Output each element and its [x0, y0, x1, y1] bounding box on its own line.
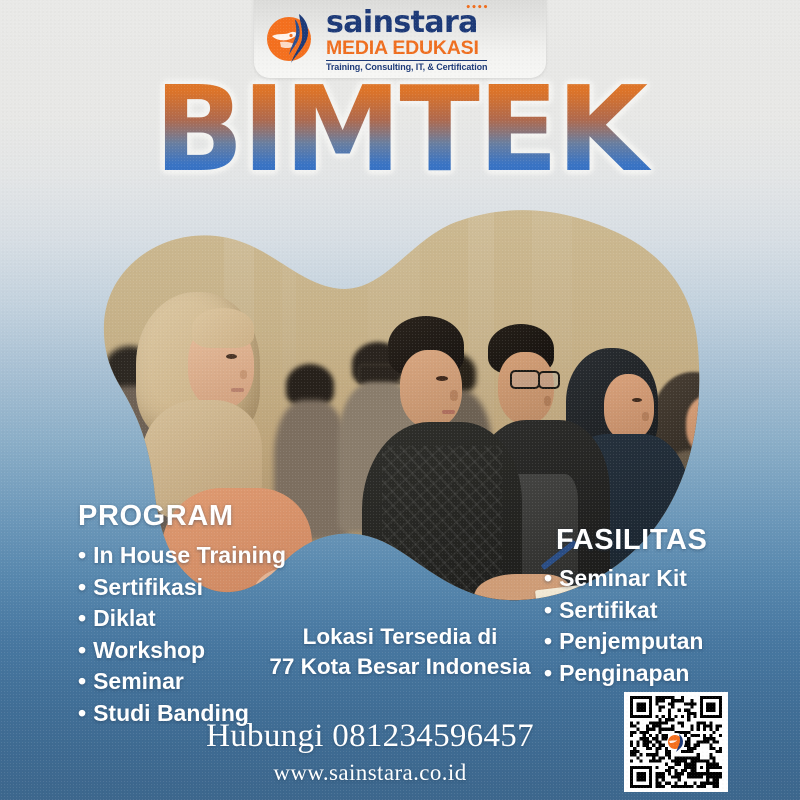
- page-title: BIMTEK: [0, 70, 800, 188]
- qr-center-logo-icon: [666, 732, 686, 752]
- fasilitas-list: Seminar Kit Sertifikat Penjemputan Pengi…: [544, 563, 707, 689]
- list-item: Penginapan: [544, 658, 707, 690]
- brand-subtitle: MEDIA EDUKASI: [326, 39, 487, 59]
- list-item: Sertifikasi: [78, 572, 286, 604]
- program-section: PROGRAM In House Training Sertifikasi Di…: [78, 500, 286, 729]
- brand-tagline: Training, Consulting, IT, & Certificatio…: [326, 60, 487, 72]
- sainstara-logo-icon: [262, 8, 324, 70]
- brand-name: sainstara••••: [326, 8, 487, 38]
- list-item: Sertifikat: [544, 595, 707, 627]
- brand-wordmark: sainstara•••• MEDIA EDUKASI Training, Co…: [326, 6, 487, 73]
- location-line-1: Lokasi Tersedia di: [255, 622, 545, 652]
- location-note: Lokasi Tersedia di 77 Kota Besar Indones…: [255, 622, 545, 682]
- brand-name-text: sainstara: [326, 5, 478, 40]
- location-line-2: 77 Kota Besar Indonesia: [255, 652, 545, 682]
- brand-logo-band: sainstara•••• MEDIA EDUKASI Training, Co…: [254, 0, 546, 78]
- list-item: In House Training: [78, 540, 286, 572]
- brand-dots: ••••: [465, 4, 488, 13]
- list-item: Penjemputan: [544, 626, 707, 658]
- fasilitas-heading: FASILITAS: [556, 524, 707, 557]
- list-item: Seminar Kit: [544, 563, 707, 595]
- fasilitas-section: FASILITAS Seminar Kit Sertifikat Penjemp…: [544, 524, 707, 689]
- program-heading: PROGRAM: [78, 500, 286, 533]
- poster-canvas: sainstara•••• MEDIA EDUKASI Training, Co…: [0, 0, 800, 800]
- qr-code[interactable]: [624, 692, 728, 792]
